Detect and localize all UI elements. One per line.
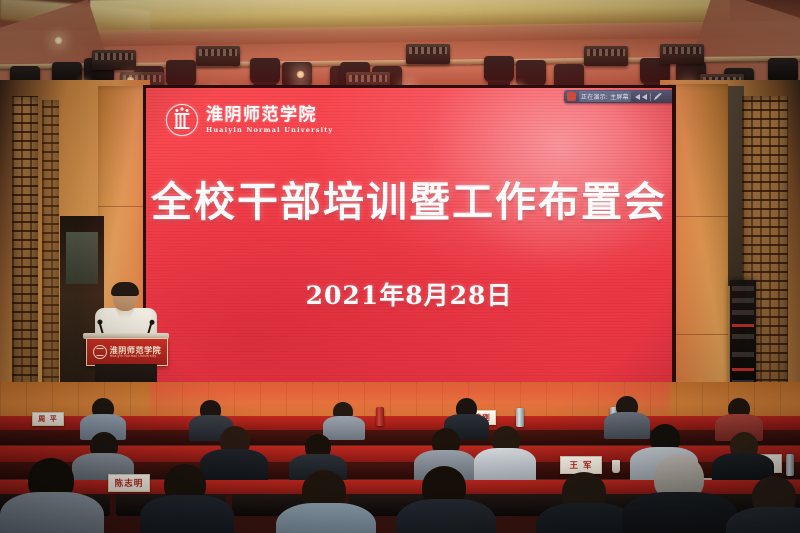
stage-light-housing bbox=[660, 44, 704, 64]
person-shoulders bbox=[276, 503, 376, 533]
led-screen: 淮阴师范学院 Huaiyin Normal University 全校干部培训暨… bbox=[146, 88, 672, 382]
thermos-flask bbox=[786, 454, 794, 476]
person-shoulders bbox=[0, 492, 104, 533]
podium-name-en: Huaiyin Normal University bbox=[110, 355, 162, 358]
presentation-icon[interactable] bbox=[567, 92, 576, 101]
slide-date: 2021年8月28日 bbox=[146, 276, 672, 312]
recessed-downlight bbox=[296, 70, 305, 79]
decorative-lattice-grille-left bbox=[12, 96, 38, 412]
speaker-hair bbox=[111, 282, 139, 296]
toolbar-divider bbox=[650, 93, 651, 101]
university-name-cn: 淮阴师范学院 bbox=[206, 107, 333, 124]
presentation-toolbar[interactable]: 正在演示: 主屏幕 bbox=[564, 90, 672, 103]
panel-seam bbox=[668, 216, 728, 217]
wood-panel-right bbox=[668, 84, 728, 419]
slide-title: 全校干部培训暨工作布置会 bbox=[146, 168, 672, 228]
podium-name-cn: 淮阴师范学院 bbox=[110, 346, 162, 354]
presentation-status-label: 正在演示: 主屏幕 bbox=[579, 91, 631, 102]
stage-light-housing bbox=[584, 46, 628, 66]
stage-spotlight bbox=[484, 56, 514, 82]
panel-seam bbox=[668, 334, 728, 335]
door-window-pane bbox=[66, 232, 98, 284]
speaker-glasses bbox=[114, 295, 136, 300]
annotate-pen-icon[interactable] bbox=[654, 93, 662, 101]
university-name-en: Huaiyin Normal University bbox=[206, 127, 333, 134]
name-placard: 周 平 bbox=[32, 412, 64, 426]
thermos-flask bbox=[376, 407, 384, 426]
university-seal-emblem-icon bbox=[93, 345, 107, 359]
stage-spotlight bbox=[250, 58, 280, 84]
stage-light-housing bbox=[196, 46, 240, 66]
person-shoulders bbox=[536, 503, 636, 533]
person-shoulders bbox=[474, 448, 536, 484]
person-shoulders bbox=[622, 492, 738, 533]
person-shoulders bbox=[396, 499, 496, 533]
person-shoulders bbox=[604, 412, 650, 439]
thermos-flask bbox=[516, 408, 524, 427]
slide-nav-arrows[interactable] bbox=[635, 94, 647, 100]
university-logo: 淮阴师范学院 Huaiyin Normal University bbox=[166, 104, 333, 136]
podium-front-plaque: 淮阴师范学院 Huaiyin Normal University bbox=[86, 338, 168, 366]
name-placard: 陈志明 bbox=[108, 474, 150, 492]
audience-area: 周 平 李建刚 bbox=[0, 398, 800, 533]
paper-cup bbox=[612, 460, 620, 473]
stage-spotlight bbox=[516, 60, 546, 86]
university-seal-emblem-icon bbox=[166, 104, 198, 136]
decorative-lattice-grille-left-inner bbox=[42, 100, 59, 405]
person-shoulders bbox=[323, 416, 365, 440]
recessed-downlight bbox=[54, 36, 63, 45]
stage-spotlight bbox=[166, 60, 196, 86]
conference-hall-photo: 淮阴师范学院 Huaiyin Normal University 全校干部培训暨… bbox=[0, 0, 800, 533]
stage-light-housing bbox=[92, 50, 136, 70]
stage-light-housing bbox=[406, 44, 450, 64]
person-shoulders bbox=[140, 495, 234, 533]
